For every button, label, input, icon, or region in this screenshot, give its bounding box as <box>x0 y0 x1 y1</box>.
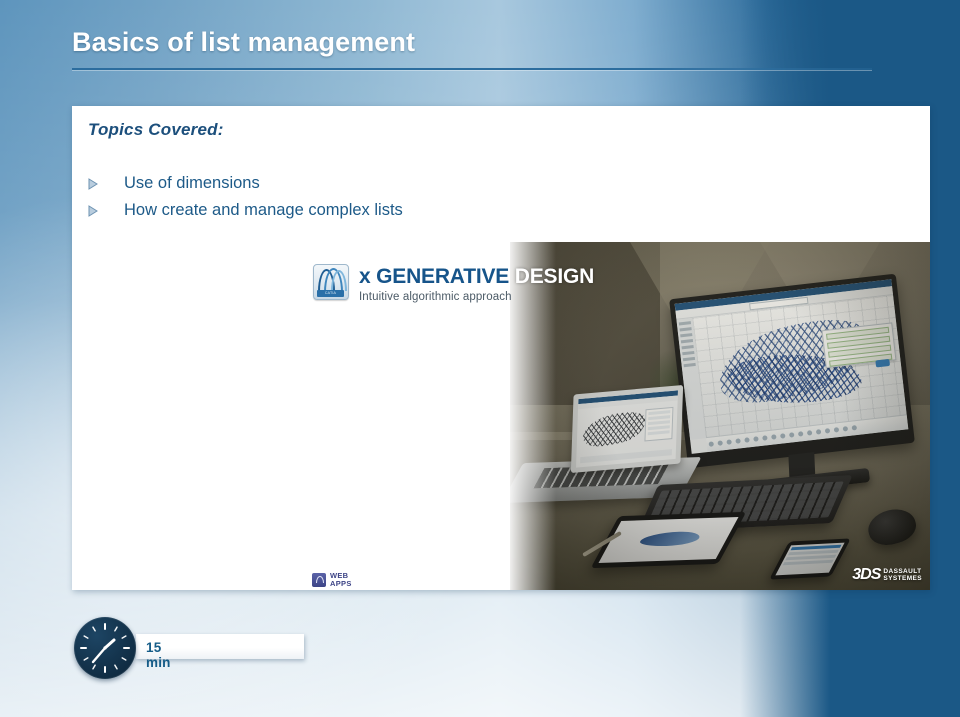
laptop-action-bar <box>580 449 672 463</box>
page-title: Basics of list management <box>72 26 872 58</box>
logo-word-primary: GENERATIVE <box>376 265 509 288</box>
monitor-dialog <box>822 322 897 368</box>
clock-minute-hand <box>93 648 105 662</box>
title-divider <box>72 68 872 70</box>
generative-design-logo: CATIA x GENERATIVE DESIGN Intuitive algo… <box>313 264 594 303</box>
triangle-bullet-icon <box>86 204 100 218</box>
duration-label: 15 min <box>146 640 171 670</box>
generative-design-title: x GENERATIVE DESIGN <box>359 266 594 288</box>
web-apps-label: WEB APPS <box>330 572 352 588</box>
tablet-screen <box>598 517 738 563</box>
list-item-label: How create and manage complex lists <box>124 202 403 219</box>
photo-monitor <box>669 274 915 469</box>
dassault-systemes-logo: 3DS DASSAULT SYSTEMES <box>852 566 922 584</box>
laptop-lid <box>571 385 683 473</box>
content-panel: Topics Covered: Use of dimensions How cr… <box>72 106 930 590</box>
monitor-3d-viewport <box>692 295 906 438</box>
photo-laptop <box>514 390 689 498</box>
monitor-screen <box>675 279 909 454</box>
generative-design-tagline: Intuitive algorithmic approach <box>359 291 594 303</box>
clock-hour-hand <box>105 640 114 648</box>
dassault-wordmark-line1: DASSAULT <box>883 568 921 575</box>
web-apps-badge: WEB APPS <box>312 572 352 588</box>
laptop-screen <box>576 390 678 467</box>
clock-face <box>74 617 136 679</box>
slide-canvas: Basics of list management Topics Covered… <box>0 0 960 717</box>
clock-icon <box>74 617 136 679</box>
list-item: Use of dimensions <box>86 170 606 197</box>
topics-list: Use of dimensions How create and manage … <box>86 170 606 224</box>
slide-header: Basics of list management <box>72 26 872 70</box>
tablet-sketch-shape <box>637 531 703 547</box>
icon-nameplate-text: CATIA <box>317 290 344 297</box>
web-apps-label-line2: APPS <box>330 579 352 588</box>
triangle-bullet-icon <box>86 177 100 191</box>
clock-center <box>103 646 106 649</box>
icon-arch-3 <box>331 270 347 291</box>
generative-design-wordmark: x GENERATIVE DESIGN Intuitive algorithmi… <box>359 264 594 303</box>
logo-word-secondary: DESIGN <box>515 265 594 288</box>
laptop-side-panel <box>644 407 673 442</box>
dassault-3ds-mark: 3DS <box>852 566 880 584</box>
web-apps-icon <box>312 573 326 587</box>
logo-prefix: x <box>359 265 370 288</box>
list-item-label: Use of dimensions <box>124 175 260 192</box>
dassault-wordmark-line2: SYSTEMES <box>883 575 922 582</box>
catia-generative-design-icon: CATIA <box>313 264 349 300</box>
list-item: How create and manage complex lists <box>86 197 606 224</box>
icon-nameplate: CATIA <box>317 290 344 297</box>
topics-covered-heading: Topics Covered: <box>88 120 224 140</box>
dassault-wordmark: DASSAULT SYSTEMES <box>883 568 922 583</box>
laptop-mesh-surface <box>583 408 646 450</box>
monitor-dialog-ok-button <box>875 359 890 368</box>
